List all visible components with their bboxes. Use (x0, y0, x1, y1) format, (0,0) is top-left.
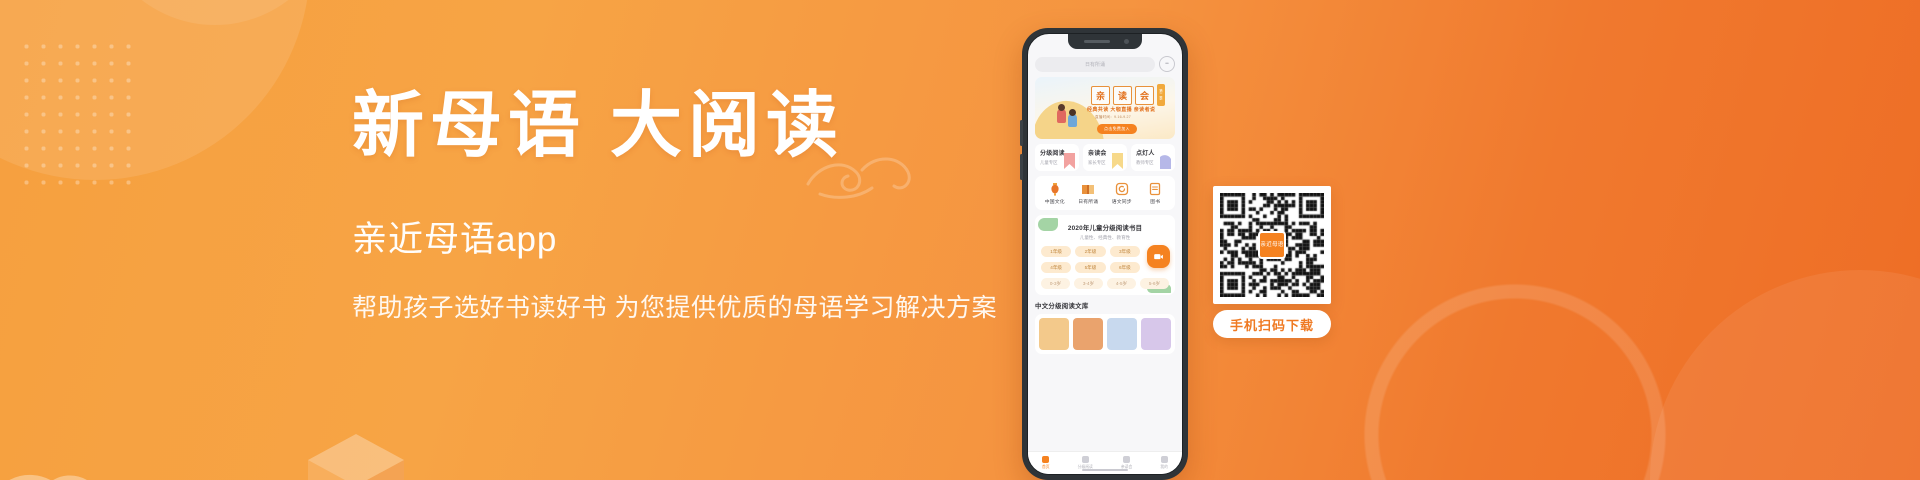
quick-link-label: 图书 (1150, 198, 1160, 205)
age-tag[interactable]: 4-5岁 (1107, 278, 1136, 289)
club-icon (1123, 456, 1130, 463)
grade-tag[interactable]: 4年级 (1041, 262, 1071, 273)
search-row: 日有所诵 •• (1035, 56, 1175, 72)
booklist-subtitle: 儿童性、经典性、教育性 (1041, 235, 1169, 241)
tab-profile[interactable]: 我的 (1160, 456, 1168, 470)
booklist-section: 2020年儿童分级阅读书目 儿童性、经典性、教育性 1年级 2年级 3年级 4年… (1035, 215, 1175, 295)
decor-circle-top-left (0, 0, 310, 180)
age-tag-row: 0-3岁 3-4岁 4-5岁 5-6岁 (1041, 278, 1169, 289)
tab-label: 首页 (1042, 465, 1050, 470)
message-icon[interactable]: •• (1159, 56, 1175, 72)
book-icon (1148, 182, 1162, 196)
hero-title: 亲 读 会 (1091, 86, 1154, 105)
decor-circle-bottom-right (1650, 270, 1920, 480)
phone-mockup: 日有所诵 •• 亲 读 会 第二季 经典共读 大咖直播 亲读者说 (1022, 28, 1188, 480)
phone-notch (1068, 34, 1142, 49)
grade-tag[interactable]: 6年级 (1110, 262, 1140, 273)
decor-circle-top-left-2 (95, 0, 335, 25)
category-cards: 分级阅读 儿童专区 亲读会 家长专区 点灯人 教师专区 (1035, 144, 1175, 171)
hero-ribbon-badge: 第二季 (1157, 84, 1165, 106)
category-card-parent-club[interactable]: 亲读会 家长专区 (1083, 144, 1127, 171)
banner-tagline: 帮助孩子选好书读好书 为您提供优质的母语学习解决方案 (352, 288, 1012, 324)
home-icon (1042, 456, 1049, 463)
hero-date: 直播时间：9.16-9.27 (1095, 115, 1131, 120)
grade-tag[interactable]: 2年级 (1075, 246, 1105, 257)
grade-tag[interactable]: 5年级 (1075, 262, 1105, 273)
leaf-decor-icon (1038, 218, 1058, 231)
grid-icon (1082, 456, 1089, 463)
grade-tag-row-1: 1年级 2年级 3年级 (1041, 246, 1169, 257)
booklist-title: 2020年儿童分级阅读书目 (1041, 223, 1169, 232)
quick-link-row: 中国文化 日有所诵 语文同步 (1035, 176, 1175, 210)
quick-link-label: 中国文化 (1045, 198, 1065, 205)
flag-icon (1110, 152, 1125, 170)
quick-link-label: 日有所诵 (1078, 198, 1098, 205)
decor-ring (1350, 270, 1680, 480)
hero-child-2-head (1069, 109, 1076, 116)
book-thumb[interactable] (1107, 318, 1137, 350)
decor-dot-grid (18, 38, 140, 188)
tab-home[interactable]: 首页 (1042, 456, 1050, 470)
grade-tag[interactable]: 3年级 (1110, 246, 1140, 257)
lantern-icon (1048, 182, 1062, 196)
quick-link-textbook-sync[interactable]: 语文同步 (1106, 182, 1138, 205)
library-book-row (1035, 314, 1175, 354)
book-open-icon (1081, 182, 1095, 196)
grade-tag-row-2: 4年级 5年级 6年级 (1041, 262, 1169, 273)
sync-icon (1115, 182, 1129, 196)
user-icon (1161, 456, 1168, 463)
qr-code-panel: 亲近母语 (1213, 186, 1331, 304)
scan-download-button[interactable]: 手机扫码下载 (1213, 310, 1331, 338)
quick-link-chinese-culture[interactable]: 中国文化 (1039, 182, 1071, 205)
hero-title-char: 读 (1113, 86, 1132, 105)
hero-child-1 (1057, 109, 1066, 123)
quick-link-label: 语文同步 (1112, 198, 1132, 205)
tab-label: 我的 (1160, 465, 1168, 470)
decor-cloud-icon (0, 406, 170, 480)
age-tag[interactable]: 3-4岁 (1074, 278, 1103, 289)
home-indicator (1082, 469, 1128, 472)
phone-volume-down-button (1020, 154, 1023, 180)
banner-copy: 新母语 大阅读 亲近母语app 帮助孩子选好书读好书 为您提供优质的母语学习解决… (352, 86, 1012, 324)
library-section-title: 中文分级阅读文库 (1035, 301, 1175, 310)
category-card-teacher[interactable]: 点灯人 教师专区 (1131, 144, 1175, 171)
phone-volume-up-button (1020, 120, 1023, 146)
age-tag[interactable]: 5-6岁 (1140, 278, 1169, 289)
hero-join-button[interactable]: 点击免费加入 (1097, 124, 1137, 134)
qr-logo: 亲近母语 (1258, 231, 1286, 259)
hero-banner[interactable]: 亲 读 会 第二季 经典共读 大咖直播 亲读者说 直播时间：9.16-9.27 … (1035, 77, 1175, 139)
decor-cube-icon (300, 426, 412, 480)
lamp-shape-icon (1158, 152, 1173, 170)
app-home-screen: 日有所诵 •• 亲 读 会 第二季 经典共读 大咖直播 亲读者说 (1028, 34, 1182, 474)
hero-title-char: 会 (1135, 86, 1154, 105)
app-name: 亲近母语app (352, 211, 1012, 262)
bookmark-icon (1062, 152, 1077, 170)
book-thumb[interactable] (1039, 318, 1069, 350)
book-thumb[interactable] (1073, 318, 1103, 350)
phone-screen: 日有所诵 •• 亲 读 会 第二季 经典共读 大咖直播 亲读者说 (1027, 33, 1183, 475)
book-thumb[interactable] (1141, 318, 1171, 350)
hero-child-1-head (1058, 104, 1065, 111)
search-input[interactable]: 日有所诵 (1035, 57, 1155, 72)
grade-tag[interactable]: 1年级 (1041, 246, 1071, 257)
quick-link-daily-recite[interactable]: 日有所诵 (1072, 182, 1104, 205)
quick-link-books[interactable]: 图书 (1139, 182, 1171, 205)
category-card-graded-reading[interactable]: 分级阅读 儿童专区 (1035, 144, 1079, 171)
promo-banner: 新母语 大阅读 亲近母语app 帮助孩子选好书读好书 为您提供优质的母语学习解决… (0, 0, 1920, 480)
age-tag[interactable]: 0-3岁 (1041, 278, 1070, 289)
hero-title-char: 亲 (1091, 86, 1110, 105)
qr-code: 亲近母语 (1220, 193, 1324, 297)
hero-subtitle: 经典共读 大咖直播 亲读者说 (1087, 106, 1155, 113)
page-title: 新母语 大阅读 (352, 86, 1012, 167)
